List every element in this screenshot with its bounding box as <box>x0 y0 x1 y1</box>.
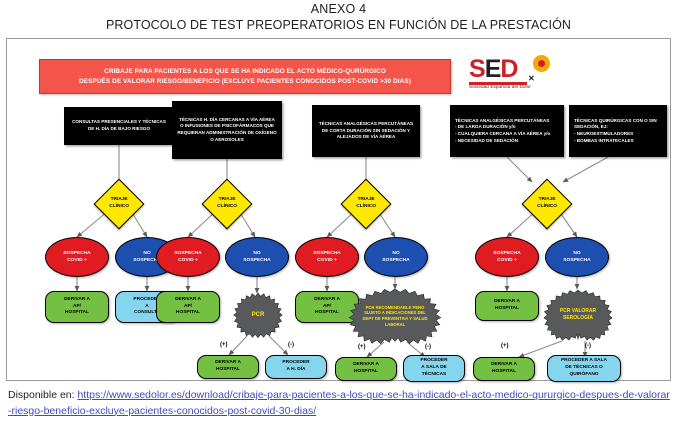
pcr-positive-action-label-col4: DERIVAR AHOSPITAL <box>491 362 517 376</box>
action-positive-label-col2: DERIVAR AAP/HOSPITAL <box>175 297 201 318</box>
triage-diamond-col1: TRIAJECLÍNICO <box>94 179 145 230</box>
suspect-covid-col4: SOSPECHACOVID + <box>475 237 539 277</box>
suspect-covid-label-col1: SOSPECHACOVID + <box>63 250 90 265</box>
pcr-negative-sign-col4: (-) <box>585 343 591 349</box>
pcr-test-col2: PCR <box>232 292 284 338</box>
pcr-negative-action-label-col2: PROCEDERA H. DÍA <box>282 360 309 374</box>
pcr-test-label-col2: PCR <box>246 311 271 319</box>
no-suspect-label-col3: NOSOSPECHA <box>382 250 409 265</box>
screening-banner-text: CRIBAJE PARA PACIENTES A LOS QUE SE HA I… <box>79 67 411 86</box>
action-positive-label-col1: DERIVAR AAP/HOSPITAL <box>64 297 90 318</box>
pcr-test-col3: PCR RECOMENDABLE PERO SUJETO A INDICACIO… <box>339 288 451 344</box>
pcr-negative-action-col3: PROCEDERA SALA DETÉCNICAS <box>403 355 465 382</box>
triage-diamond-col3: TRIAJECLÍNICO <box>341 179 392 230</box>
pcr-negative-action-col2: PROCEDERA H. DÍA <box>265 355 327 379</box>
pcr-negative-action-col4: PROCEDER A SALADE TÉCNICAS OQUIRÓFANO <box>547 355 621 382</box>
source-box-col4-b: TÉCNICAS QUIRÚRGICAS CON O SIN SEDACIÓN,… <box>569 105 667 157</box>
pcr-positive-action-col2: DERIVAR AHOSPITAL <box>197 355 259 379</box>
sed-logo-letter-e: E <box>485 55 501 83</box>
pcr-positive-action-col4: DERIVAR AHOSPITAL <box>473 357 535 381</box>
footer-url-link[interactable]: https://www.sedolor.es/download/cribaje-… <box>8 389 670 417</box>
source-box-col4-a-label: TÉCNICAS ANALGÉSICAS PERCUTÁNEAS- DE LAR… <box>455 118 550 145</box>
triage-diamond-col2: TRIAJECLÍNICO <box>202 179 253 230</box>
no-suspect-label-col2: NOSOSPECHA <box>243 250 270 265</box>
action-positive-col2: DERIVAR AAP/HOSPITAL <box>156 291 220 323</box>
suspect-covid-col2: SOSPECHACOVID + <box>156 237 220 277</box>
triage-diamond-col4: TRIAJECLÍNICO <box>522 179 573 230</box>
pcr-negative-sign-col2: (-) <box>288 342 294 348</box>
suspect-covid-label-col4: SOSPECHACOVID + <box>493 250 520 265</box>
diagram-page: ANEXO 4 PROTOCOLO DE TEST PREOPERATORIOS… <box>0 0 677 429</box>
suspect-covid-label-col3: SOSPECHACOVID + <box>313 250 340 265</box>
sed-logo-circle-icon <box>533 55 550 72</box>
triage-label-col3: TRIAJECLÍNICO <box>356 197 376 210</box>
pcr-test-label-col4: PCR VALORAR SEROLOGÍA <box>552 308 604 322</box>
pcr-negative-sign-col3: (-) <box>425 344 431 350</box>
no-suspect-label-col4: NOSOSPECHA <box>563 250 590 265</box>
triage-label-col2: TRIAJECLÍNICO <box>217 197 237 210</box>
banner-line-2: DESPUÉS DE VALORAR RIESGO/BENEFICIO (EXC… <box>79 77 411 87</box>
pcr-test-label-col3: PCR RECOMENDABLE PERO SUJETO A INDICACIO… <box>354 305 436 328</box>
source-box-col4-a: TÉCNICAS ANALGÉSICAS PERCUTÁNEAS- DE LAR… <box>450 105 564 157</box>
no-suspect-col4: NOSOSPECHA <box>545 237 609 277</box>
suspect-covid-label-col2: SOSPECHACOVID + <box>174 250 201 265</box>
sed-logo-wordmark: SED <box>469 57 579 82</box>
sed-logo-letter-s: S <box>469 55 485 83</box>
action-positive-label-col3: DERIVAR AAP/HOSPITAL <box>314 297 340 318</box>
sed-logo: SED ✕ Sociedad Española del Dolor <box>469 57 579 101</box>
action-positive-label-col4: DERIVAR AHOSPITAL <box>494 299 520 313</box>
pcr-positive-action-col3: DERIVAR AHOSPITAL <box>335 357 397 381</box>
footer-label: Disponible en: <box>8 389 75 401</box>
sed-logo-red-bar <box>469 82 527 85</box>
pcr-positive-sign-col2: (+) <box>220 342 228 348</box>
protocol-title: PROTOCOLO DE TEST PREOPERATORIOS EN FUNC… <box>0 18 677 32</box>
pcr-negative-action-label-col4: PROCEDER A SALADE TÉCNICAS OQUIRÓFANO <box>561 358 607 379</box>
action-positive-col4: DERIVAR AHOSPITAL <box>475 291 539 321</box>
source-box-col1: CONSULTAS PRESENCIALES Y TÉCNICAS DE H. … <box>64 107 174 145</box>
suspect-covid-col3: SOSPECHACOVID + <box>295 237 359 277</box>
pcr-positive-action-label-col3: DERIVAR AHOSPITAL <box>353 362 379 376</box>
action-positive-col1: DERIVAR AAP/HOSPITAL <box>45 291 109 323</box>
footer-source: Disponible en: https://www.sedolor.es/do… <box>8 388 673 420</box>
source-box-col3: TÉCNICAS ANALGÉSICAS PERCUTÁNEAS DE CORT… <box>312 105 420 157</box>
annex-number: ANEXO 4 <box>0 2 677 16</box>
no-suspect-col2: NOSOSPECHA <box>225 237 289 277</box>
no-suspect-col3: NOSOSPECHA <box>364 237 428 277</box>
pcr-positive-sign-col3: (+) <box>358 344 366 350</box>
source-box-col2: TÉCNICAS H. DÍA CERCANAS A VÍA AÉREA O I… <box>172 101 282 159</box>
diagram-frame: CRIBAJE PARA PACIENTES A LOS QUE SE HA I… <box>6 38 671 381</box>
source-box-col4-b-label: TÉCNICAS QUIRÚRGICAS CON O SIN SEDACIÓN,… <box>574 118 662 145</box>
pcr-test-col4: PCR VALORAR SEROLOGÍA <box>542 289 614 341</box>
page-title: ANEXO 4 PROTOCOLO DE TEST PREOPERATORIOS… <box>0 2 677 32</box>
triage-label-col4: TRIAJECLÍNICO <box>537 197 557 210</box>
pcr-negative-action-label-col3: PROCEDERA SALA DETÉCNICAS <box>420 358 447 379</box>
screening-banner: CRIBAJE PARA PACIENTES A LOS QUE SE HA I… <box>39 59 451 94</box>
banner-line-1: CRIBAJE PARA PACIENTES A LOS QUE SE HA I… <box>79 67 411 77</box>
triage-label-col1: TRIAJECLÍNICO <box>109 197 129 210</box>
pcr-positive-action-label-col2: DERIVAR AHOSPITAL <box>215 360 241 374</box>
pcr-positive-sign-col4: (+) <box>501 343 509 349</box>
sed-logo-mark-icon: ✕ <box>528 74 535 83</box>
sed-logo-letter-d: D <box>500 55 517 83</box>
suspect-covid-col1: SOSPECHACOVID + <box>45 237 109 277</box>
